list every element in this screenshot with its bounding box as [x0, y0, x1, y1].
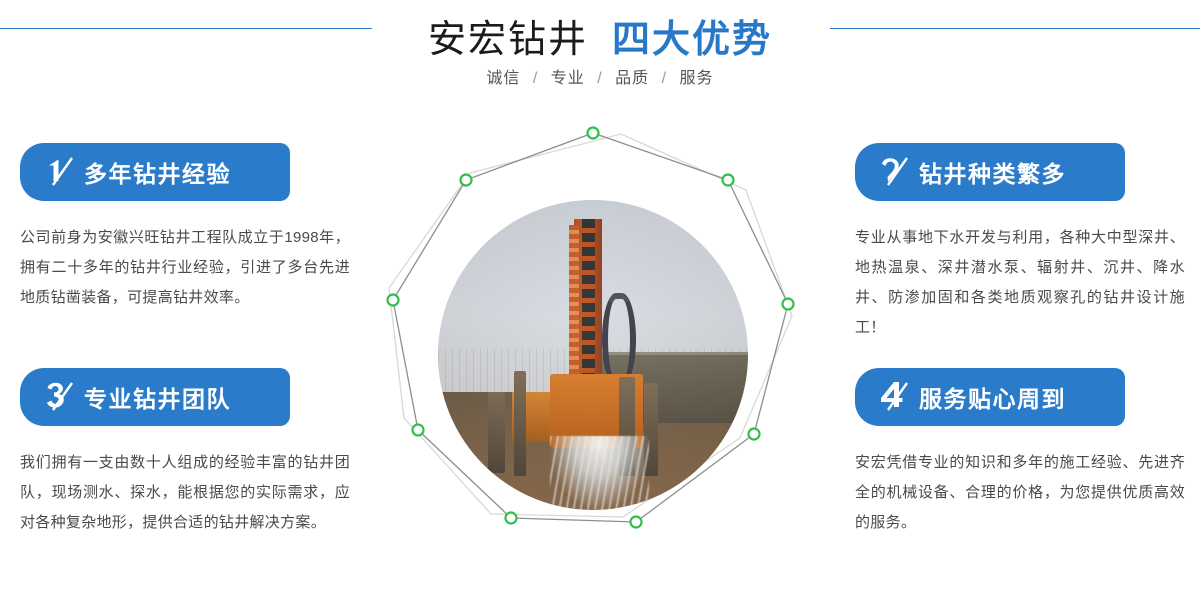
feature-card-2-banner: 钻井种类繁多 — [855, 143, 1125, 201]
feature-card-3[interactable]: 专业钻井团队 我们拥有一支由数十人组成的经验丰富的钻井团队，现场测水、探水，能根… — [20, 368, 350, 538]
subtitle-separator-1: / — [533, 70, 538, 87]
polygon-node — [388, 295, 399, 306]
number-three-icon — [38, 376, 80, 418]
subtitle-item-1: 诚信 — [486, 70, 520, 87]
drilling-rig-photo-inner — [438, 200, 748, 510]
polygon-node — [461, 175, 472, 186]
feature-card-3-title: 专业钻井团队 — [84, 380, 231, 414]
polygon-node — [631, 517, 642, 528]
page-title: 安宏钻井四大优势 — [0, 8, 1200, 63]
feature-card-1-body: 公司前身为安徽兴旺钻井工程队成立于1998年，拥有二十多年的钻井行业经验，引进了… — [20, 223, 350, 313]
number-four-icon — [873, 376, 915, 418]
subtitle-separator-3: / — [662, 70, 667, 87]
page-subtitle: 诚信 / 专业 / 品质 / 服务 — [0, 64, 1200, 88]
subtitle-separator-2: / — [597, 70, 602, 87]
feature-card-1-banner: 多年钻井经验 — [20, 143, 290, 201]
feature-card-2[interactable]: 钻井种类繁多 专业从事地下水开发与利用，各种大中型深井、地热温泉、深井潜水泵、辐… — [855, 143, 1185, 343]
number-one-icon — [38, 151, 80, 193]
feature-card-3-body: 我们拥有一支由数十人组成的经验丰富的钻井团队，现场测水、探水，能根据您的实际需求… — [20, 448, 350, 538]
drilling-rig-photo — [438, 200, 748, 510]
polygon-node — [749, 429, 760, 440]
feature-card-3-banner: 专业钻井团队 — [20, 368, 290, 426]
number-two-icon — [873, 151, 915, 193]
feature-card-4-body: 安宏凭借专业的知识和多年的施工经验、先进齐全的机械设备、合理的价格，为您提供优质… — [855, 448, 1185, 538]
page-root: 安宏钻井四大优势 诚信 / 专业 / 品质 / 服务 多年钻井经验 公司前身为安… — [0, 0, 1200, 600]
photo-tint — [438, 200, 748, 510]
feature-card-2-title: 钻井种类繁多 — [919, 155, 1066, 189]
feature-card-2-body: 专业从事地下水开发与利用，各种大中型深井、地热温泉、深井潜水泵、辐射井、沉井、降… — [855, 223, 1185, 343]
feature-card-4-banner: 服务贴心周到 — [855, 368, 1125, 426]
feature-card-4-title: 服务贴心周到 — [919, 380, 1066, 414]
page-header: 安宏钻井四大优势 诚信 / 专业 / 品质 / 服务 — [0, 0, 1200, 108]
subtitle-item-2: 专业 — [551, 70, 585, 87]
subtitle-item-3: 品质 — [615, 70, 649, 87]
feature-card-1-title: 多年钻井经验 — [84, 155, 231, 189]
subtitle-item-4: 服务 — [680, 70, 714, 87]
page-title-primary: 安宏钻井 — [428, 19, 588, 61]
polygon-node — [506, 513, 517, 524]
polygon-node — [783, 299, 794, 310]
polygon-node — [413, 425, 424, 436]
feature-card-4[interactable]: 服务贴心周到 安宏凭借专业的知识和多年的施工经验、先进齐全的机械设备、合理的价格… — [855, 368, 1185, 538]
polygon-node — [588, 128, 599, 139]
page-title-accent: 四大优势 — [612, 19, 772, 61]
feature-card-1[interactable]: 多年钻井经验 公司前身为安徽兴旺钻井工程队成立于1998年，拥有二十多年的钻井行… — [20, 143, 350, 313]
polygon-node — [723, 175, 734, 186]
